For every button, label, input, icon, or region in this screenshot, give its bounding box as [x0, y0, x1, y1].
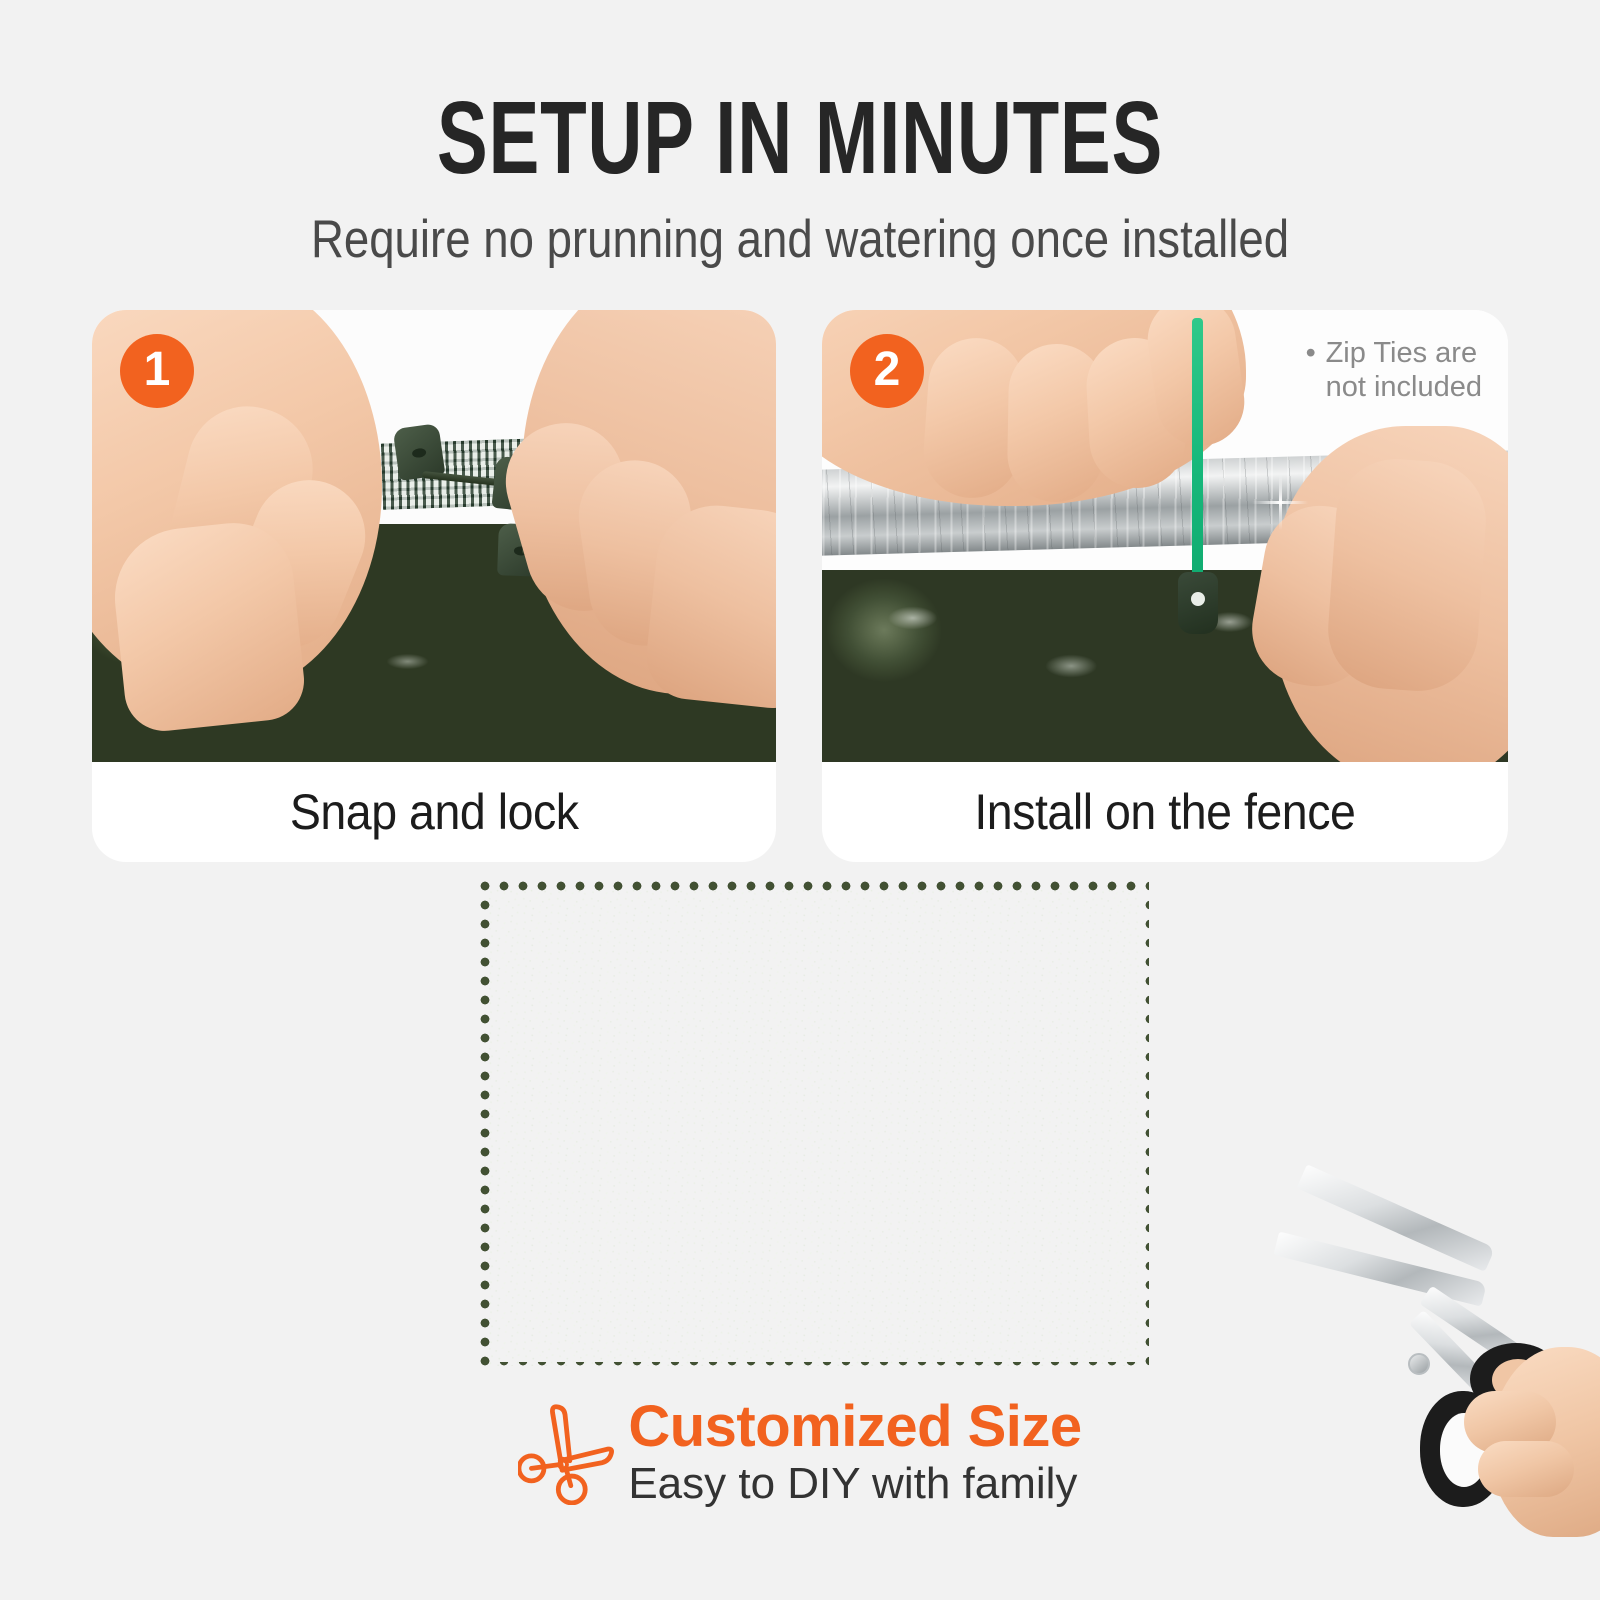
ivy-fence-panel-product — [487, 888, 1140, 1366]
ivy-ragged-edge — [478, 879, 1149, 1375]
feature-text-group: Customized Size Easy to DIY with family — [628, 1396, 1081, 1510]
step-1-caption: Snap and lock — [92, 762, 776, 862]
feature-subtitle: Easy to DIY with family — [628, 1458, 1081, 1510]
zip-tie-head — [1178, 572, 1218, 634]
step-1-photo: 1 — [92, 310, 776, 762]
step-card-1: 1 Snap and lock — [92, 310, 776, 862]
scissors-icon — [518, 1401, 614, 1505]
left-palm — [108, 517, 308, 735]
step-1-caption-text: Snap and lock — [290, 783, 579, 841]
step-number-badge-2: 2 — [850, 334, 924, 408]
rail-sparkle — [1252, 474, 1308, 530]
page-title: SETUP IN MINUTES — [208, 0, 1392, 189]
step-2-caption-text: Install on the fence — [974, 783, 1355, 841]
right-palm — [1324, 455, 1490, 695]
step-number-badge-1: 1 — [120, 334, 194, 408]
customized-size-feature: Customized Size Easy to DIY with family — [0, 1396, 1600, 1510]
header: SETUP IN MINUTES Require no prunning and… — [0, 0, 1600, 269]
scissors-pivot-screw — [1408, 1353, 1430, 1375]
feature-title: Customized Size — [628, 1396, 1081, 1458]
step-card-2: 2 Zip Ties are not included Install on t… — [822, 310, 1508, 862]
page-subtitle: Require no prunning and watering once in… — [112, 189, 1488, 269]
zip-ties-not-included-note: Zip Ties are not included — [1306, 336, 1482, 404]
step-2-photo: 2 Zip Ties are not included — [822, 310, 1508, 762]
step-2-caption: Install on the fence — [822, 762, 1508, 862]
